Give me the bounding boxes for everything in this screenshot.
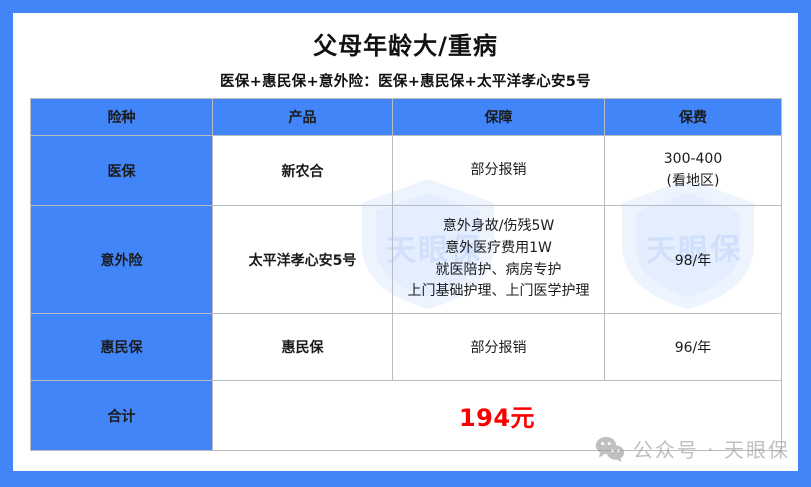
poster-root: 天眼保 天眼保 天眼保 父母年龄大/重病 医保+惠民保+意外险：医保+惠民保+太… [0,0,811,487]
coverage-line: 部分报销 [399,160,598,182]
column-header-premium: 保费 [605,99,782,136]
table-row: 意外险 太平洋孝心安5号 意外身故/伤残5W 意外医疗费用1W 就医陪护、病房专… [31,206,782,314]
wechat-icon [595,436,625,462]
footer-brand: 公众号 · 天眼保 [595,434,790,463]
cell-coverage: 部分报销 [393,136,605,206]
premium-line: (看地区) [611,171,775,193]
cell-premium: 96/年 [605,314,782,381]
cell-premium: 300-400 (看地区) [605,136,782,206]
cell-category: 医保 [31,136,213,206]
total-amount: 194元 [459,404,535,432]
cell-category: 意外险 [31,206,213,314]
insurance-plan-table: 险种 产品 保障 保费 医保 新农合 部分报销 [30,98,782,451]
cell-premium: 98/年 [605,206,782,314]
column-header-coverage: 保障 [393,99,605,136]
coverage-line: 上门基础护理、上门医学护理 [399,281,598,303]
coverage-line: 就医陪护、病房专护 [399,260,598,282]
cell-total-label: 合计 [31,381,213,451]
cell-product: 惠民保 [213,314,393,381]
premium-line: 300-400 [611,149,775,171]
coverage-line: 意外医疗费用1W [399,238,598,260]
table-header-row: 险种 产品 保障 保费 [31,99,782,136]
header: 父母年龄大/重病 医保+惠民保+意外险：医保+惠民保+太平洋孝心安5号 [13,13,798,91]
cell-product: 新农合 [213,136,393,206]
column-header-product: 产品 [213,99,393,136]
coverage-line: 意外身故/伤残5W [399,216,598,238]
column-header-category: 险种 [31,99,213,136]
page-subtitle: 医保+惠民保+意外险：医保+惠民保+太平洋孝心安5号 [13,70,798,91]
cell-product: 太平洋孝心安5号 [213,206,393,314]
cell-coverage: 部分报销 [393,314,605,381]
table-row: 医保 新农合 部分报销 300-400 (看地区) [31,136,782,206]
brand-label: 公众号 · 天眼保 [633,434,790,463]
page-title: 父母年龄大/重病 [13,26,798,61]
content-card: 天眼保 天眼保 天眼保 父母年龄大/重病 医保+惠民保+意外险：医保+惠民保+太… [13,13,798,471]
table-row: 惠民保 惠民保 部分报销 96/年 [31,314,782,381]
cell-coverage: 意外身故/伤残5W 意外医疗费用1W 就医陪护、病房专护 上门基础护理、上门医学… [393,206,605,314]
cell-category: 惠民保 [31,314,213,381]
